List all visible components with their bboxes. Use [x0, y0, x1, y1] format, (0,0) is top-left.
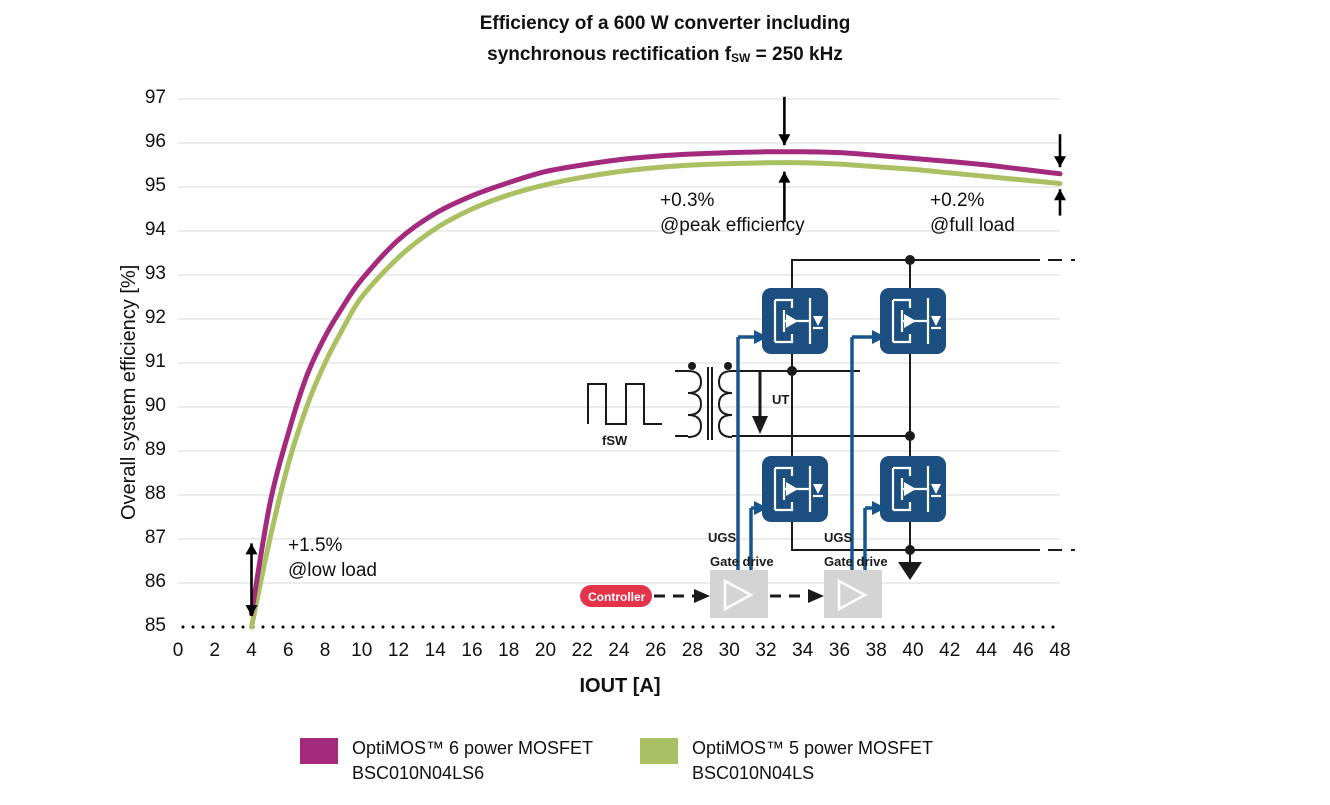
y-tick-label: 88 [116, 484, 166, 504]
y-tick-label: 90 [116, 396, 166, 416]
x-tick-label: 38 [856, 641, 896, 661]
annotation-full-load-line1: +0.2% [930, 188, 1015, 213]
x-tick-label: 26 [636, 641, 676, 661]
controller-label: Controller [588, 590, 646, 604]
x-tick-label: 32 [746, 641, 786, 661]
x-tick-label: 4 [232, 641, 272, 661]
mosfet-top-right [880, 288, 946, 354]
fsw-label: fSW [602, 433, 628, 448]
annotation-peak-line2: @peak efficiency [660, 213, 805, 238]
mosfet-bottom-left [762, 456, 828, 522]
legend-swatch-1 [640, 738, 678, 764]
x-tick-label: 48 [1040, 641, 1080, 661]
y-tick-label: 89 [116, 440, 166, 460]
x-tick-label: 18 [489, 641, 529, 661]
annotation-low-load-line1: +1.5% [288, 533, 377, 558]
junction-dot [905, 431, 915, 441]
ut-arrow-icon [752, 372, 768, 434]
ground-arrow-icon [898, 550, 922, 580]
x-tick-label: 14 [415, 641, 455, 661]
mosfet-top-left [762, 288, 828, 354]
y-tick-label: 86 [116, 572, 166, 592]
y-tick-label: 97 [116, 88, 166, 108]
y-tick-label: 92 [116, 308, 166, 328]
legend-label-1-line2: BSC010N04LS [692, 761, 933, 786]
x-tick-label: 22 [562, 641, 602, 661]
x-tick-label: 8 [305, 641, 345, 661]
x-tick-label: 44 [967, 641, 1007, 661]
gate-drive-label-2: Gate drive [824, 554, 888, 569]
legend-swatch-0 [300, 738, 338, 764]
legend-label-0-line1: OptiMOS™ 6 power MOSFET [352, 736, 593, 761]
x-tick-label: 24 [599, 641, 639, 661]
title-line-2-post: = 250 kHz [750, 44, 842, 65]
annotation-full-load: +0.2% @full load [930, 188, 1015, 238]
ugs-label-1: UGS [708, 530, 737, 545]
annotation-full-load-line2: @full load [930, 213, 1015, 238]
x-axis-title: IOUT [A] [0, 675, 1240, 698]
page-title: Efficiency of a 600 W converter includin… [0, 8, 1330, 74]
title-line-2: synchronous rectification fSW = 250 kHz [0, 39, 1330, 74]
x-tick-label: 10 [342, 641, 382, 661]
y-tick-label: 94 [116, 220, 166, 240]
x-tick-label: 36 [820, 641, 860, 661]
x-tick-label: 28 [673, 641, 713, 661]
controller-arrow-2 [808, 589, 824, 603]
x-tick-label: 2 [195, 641, 235, 661]
legend-label-1-line1: OptiMOS™ 5 power MOSFET [692, 736, 933, 761]
gate-drive-block-2 [824, 570, 882, 618]
gate-drive-block-1 [710, 570, 768, 618]
legend-item-0: OptiMOS™ 6 power MOSFET BSC010N04LS6 [300, 736, 593, 786]
annotation-low-load: +1.5% @low load [288, 533, 377, 583]
mosfet-bottom-right [880, 456, 946, 522]
x-tick-label: 12 [379, 641, 419, 661]
chart-page: Efficiency of a 600 W converter includin… [0, 0, 1330, 805]
ugs-label-2: UGS [824, 530, 853, 545]
annotation-peak: +0.3% @peak efficiency [660, 188, 805, 238]
controller-arrow-1 [694, 589, 710, 603]
x-tick-label: 0 [158, 641, 198, 661]
y-tick-label: 95 [116, 176, 166, 196]
title-line-1: Efficiency of a 600 W converter includin… [480, 13, 851, 34]
y-tick-label: 93 [116, 264, 166, 284]
annotation-peak-line1: +0.3% [660, 188, 805, 213]
x-tick-label: 16 [452, 641, 492, 661]
junction-dot [905, 255, 915, 265]
y-tick-label: 91 [116, 352, 166, 372]
y-tick-label: 85 [116, 616, 166, 636]
circuit-diagram-inset: UT fSW [570, 240, 1075, 625]
x-tick-label: 46 [1003, 641, 1043, 661]
x-tick-label: 6 [268, 641, 308, 661]
square-wave-icon [588, 384, 662, 424]
title-line-2-pre: synchronous rectification f [487, 44, 731, 65]
legend-item-1: OptiMOS™ 5 power MOSFET BSC010N04LS [640, 736, 933, 786]
x-tick-label: 20 [526, 641, 566, 661]
dashed-rails [1002, 260, 1075, 550]
legend-label-0-line2: BSC010N04LS6 [352, 761, 593, 786]
gate-drive-label-1: Gate drive [710, 554, 774, 569]
y-tick-label: 87 [116, 528, 166, 548]
x-tick-label: 40 [893, 641, 933, 661]
circuit-svg: UT fSW [570, 240, 1075, 625]
x-tick-label: 34 [783, 641, 823, 661]
y-axis-title: Overall system efficiency [%] [118, 265, 141, 520]
ut-label: UT [772, 392, 789, 407]
x-tick-label: 30 [709, 641, 749, 661]
annotation-low-load-line2: @low load [288, 558, 377, 583]
y-tick-label: 96 [116, 132, 166, 152]
x-tick-label: 42 [930, 641, 970, 661]
title-subscript: SW [731, 51, 750, 65]
junction-dot [787, 366, 797, 376]
